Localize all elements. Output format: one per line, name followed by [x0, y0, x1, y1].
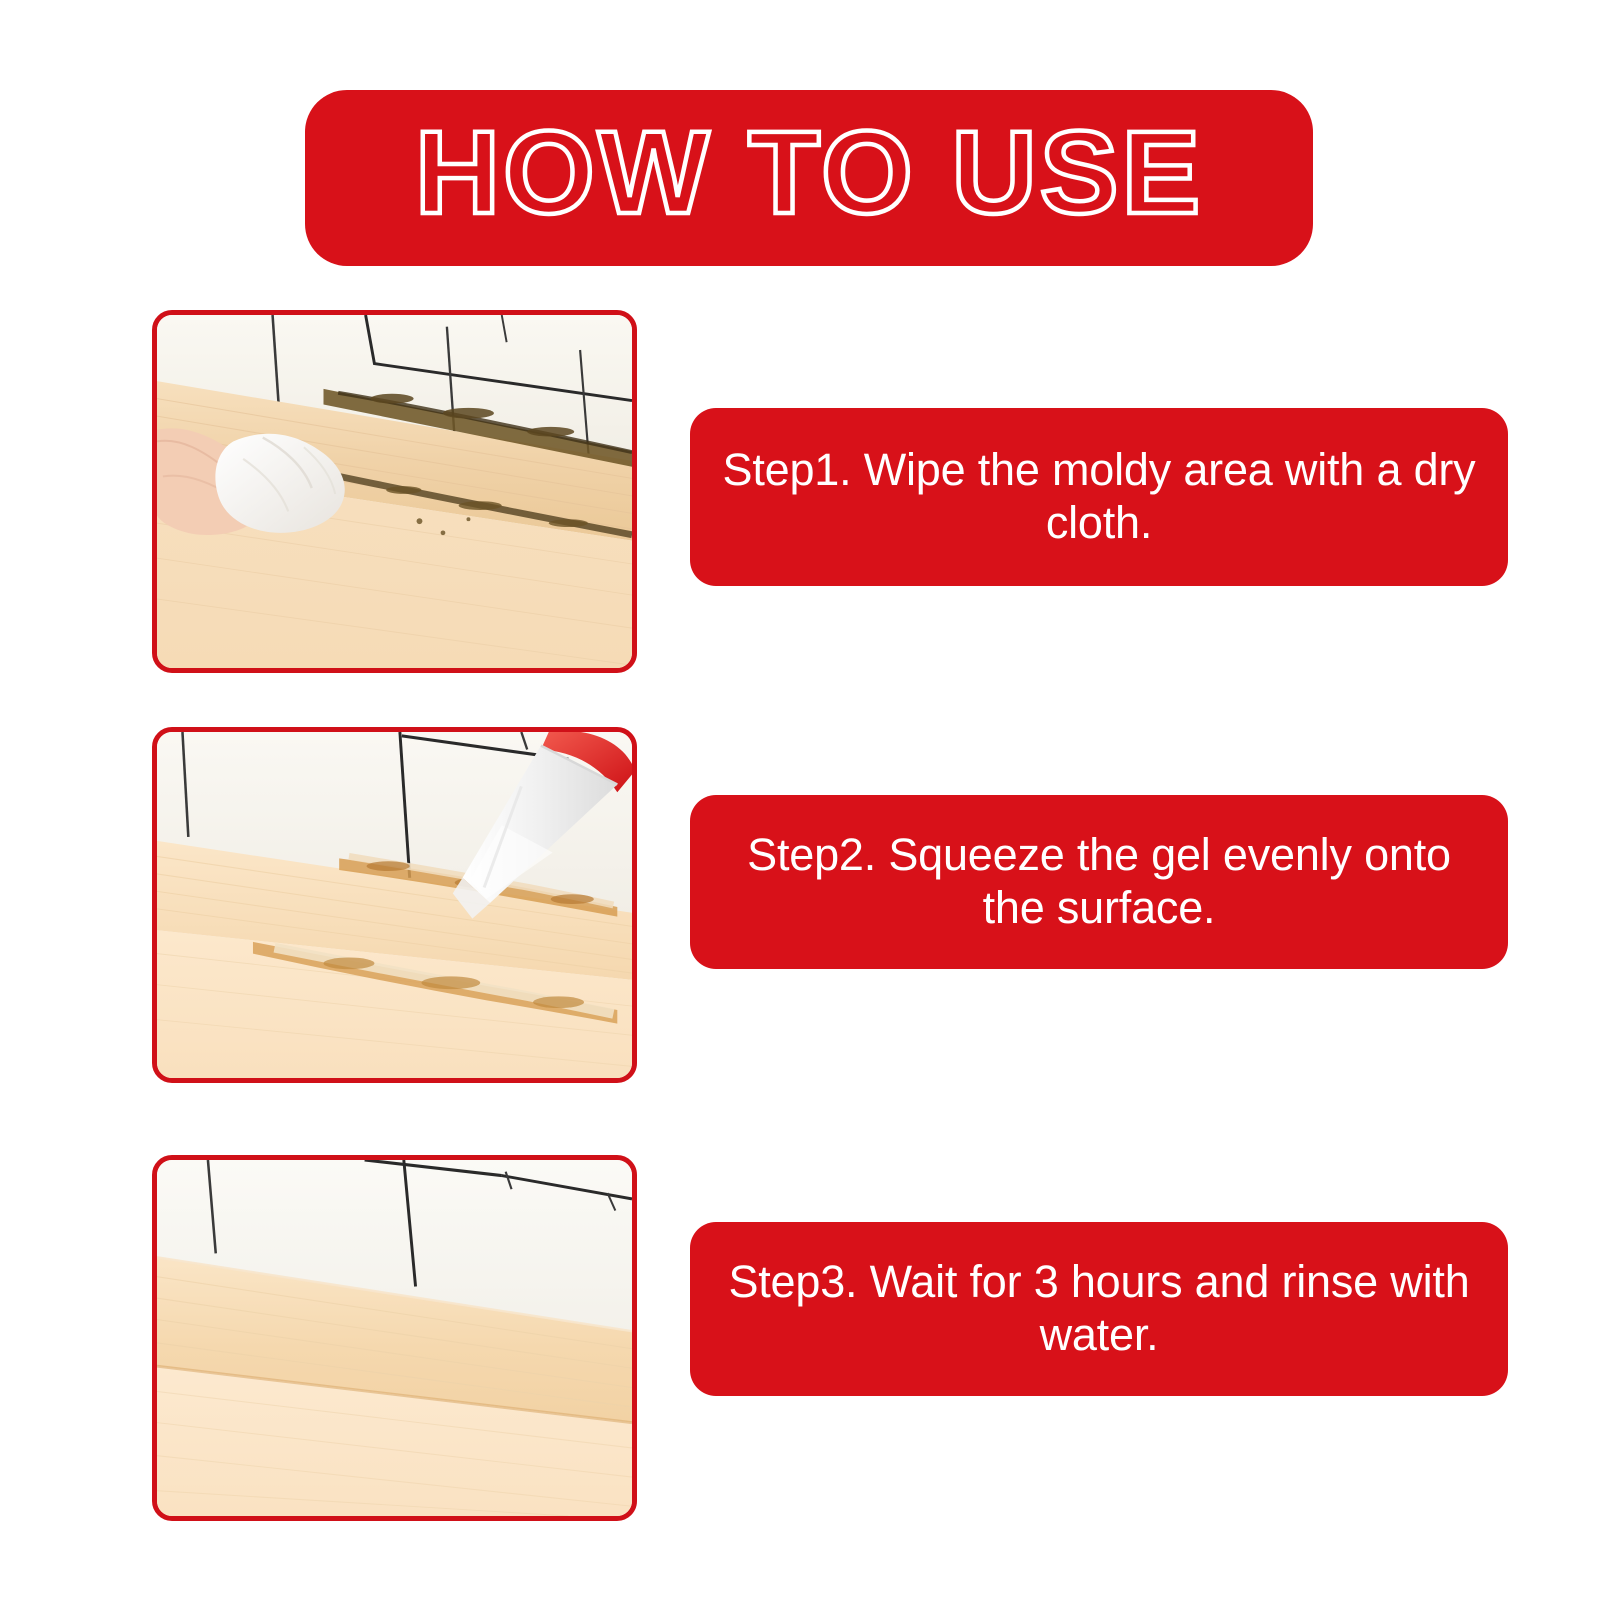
step-1-photo-frame — [152, 310, 637, 673]
clean-baseboard-result-image — [157, 1160, 632, 1516]
step-3-text: Step3. Wait for 3 hours and rinse with w… — [716, 1256, 1482, 1361]
step-1-text-box: Step1. Wipe the moldy area with a dry cl… — [690, 408, 1508, 586]
step-1-text: Step1. Wipe the moldy area with a dry cl… — [716, 444, 1482, 549]
squeezing-gel-onto-baseboard-image — [157, 732, 632, 1078]
page-title-text: HOW TO USE — [415, 107, 1203, 239]
step-3-text-box: Step3. Wait for 3 hours and rinse with w… — [690, 1222, 1508, 1396]
step-2-photo-frame — [152, 727, 637, 1083]
step-2-text-box: Step2. Squeeze the gel evenly onto the s… — [690, 795, 1508, 969]
step-2-text: Step2. Squeeze the gel evenly onto the s… — [716, 829, 1482, 934]
page-title: HOW TO USE — [369, 113, 1249, 243]
wiping-moldy-baseboard-with-dry-cloth-image — [157, 315, 632, 668]
header-banner: HOW TO USE — [305, 90, 1313, 266]
step-3-photo-frame — [152, 1155, 637, 1521]
